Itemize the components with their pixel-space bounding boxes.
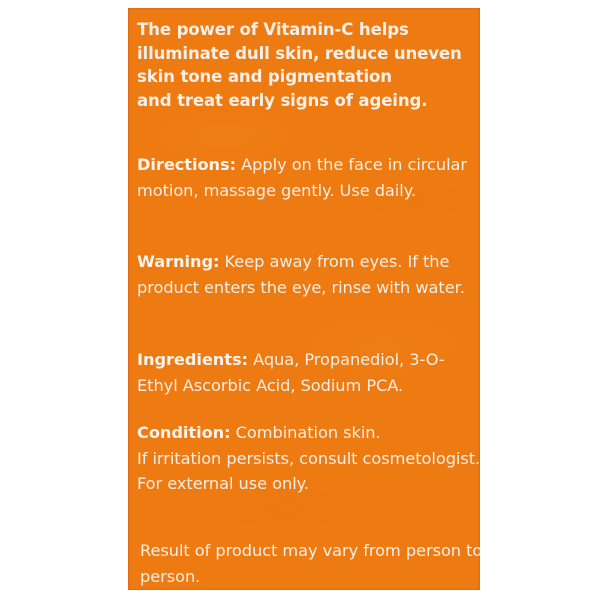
headline-line-4: and treat early signs of ageing. (137, 89, 477, 113)
headline-line-2: illuminate dull skin, reduce uneven (137, 42, 477, 66)
ingredients-label: Ingredients: (137, 350, 248, 369)
headline-block: The power of Vitamin-C helps illuminate … (137, 18, 477, 112)
section-warning: Warning: Keep away from eyes. If the pro… (137, 249, 480, 300)
condition-body-3: For external use only. (137, 471, 480, 497)
section-directions: Directions: Apply on the face in circula… (137, 152, 480, 203)
headline-line-3: skin tone and pigmentation (137, 65, 477, 89)
disclaimer-text: Result of product may vary from person t… (140, 538, 480, 589)
condition-label: Condition: (137, 423, 231, 442)
section-ingredients: Ingredients: Aqua, Propanediol, 3-O-Ethy… (137, 347, 480, 398)
directions-label: Directions: (137, 155, 236, 174)
section-condition: Condition: Combination skin. If irritati… (137, 420, 480, 497)
headline-line-1: The power of Vitamin-C helps (137, 18, 477, 42)
warning-label: Warning: (137, 252, 219, 271)
condition-line-1: Condition: Combination skin. (137, 420, 480, 446)
condition-body-1: Combination skin. (231, 423, 381, 442)
condition-body-2: If irritation persists, consult cosmetol… (137, 446, 480, 472)
orange-label-panel: The power of Vitamin-C helps illuminate … (128, 8, 480, 590)
product-label-canvas: The power of Vitamin-C helps illuminate … (0, 0, 600, 600)
label-content: The power of Vitamin-C helps illuminate … (137, 8, 480, 590)
